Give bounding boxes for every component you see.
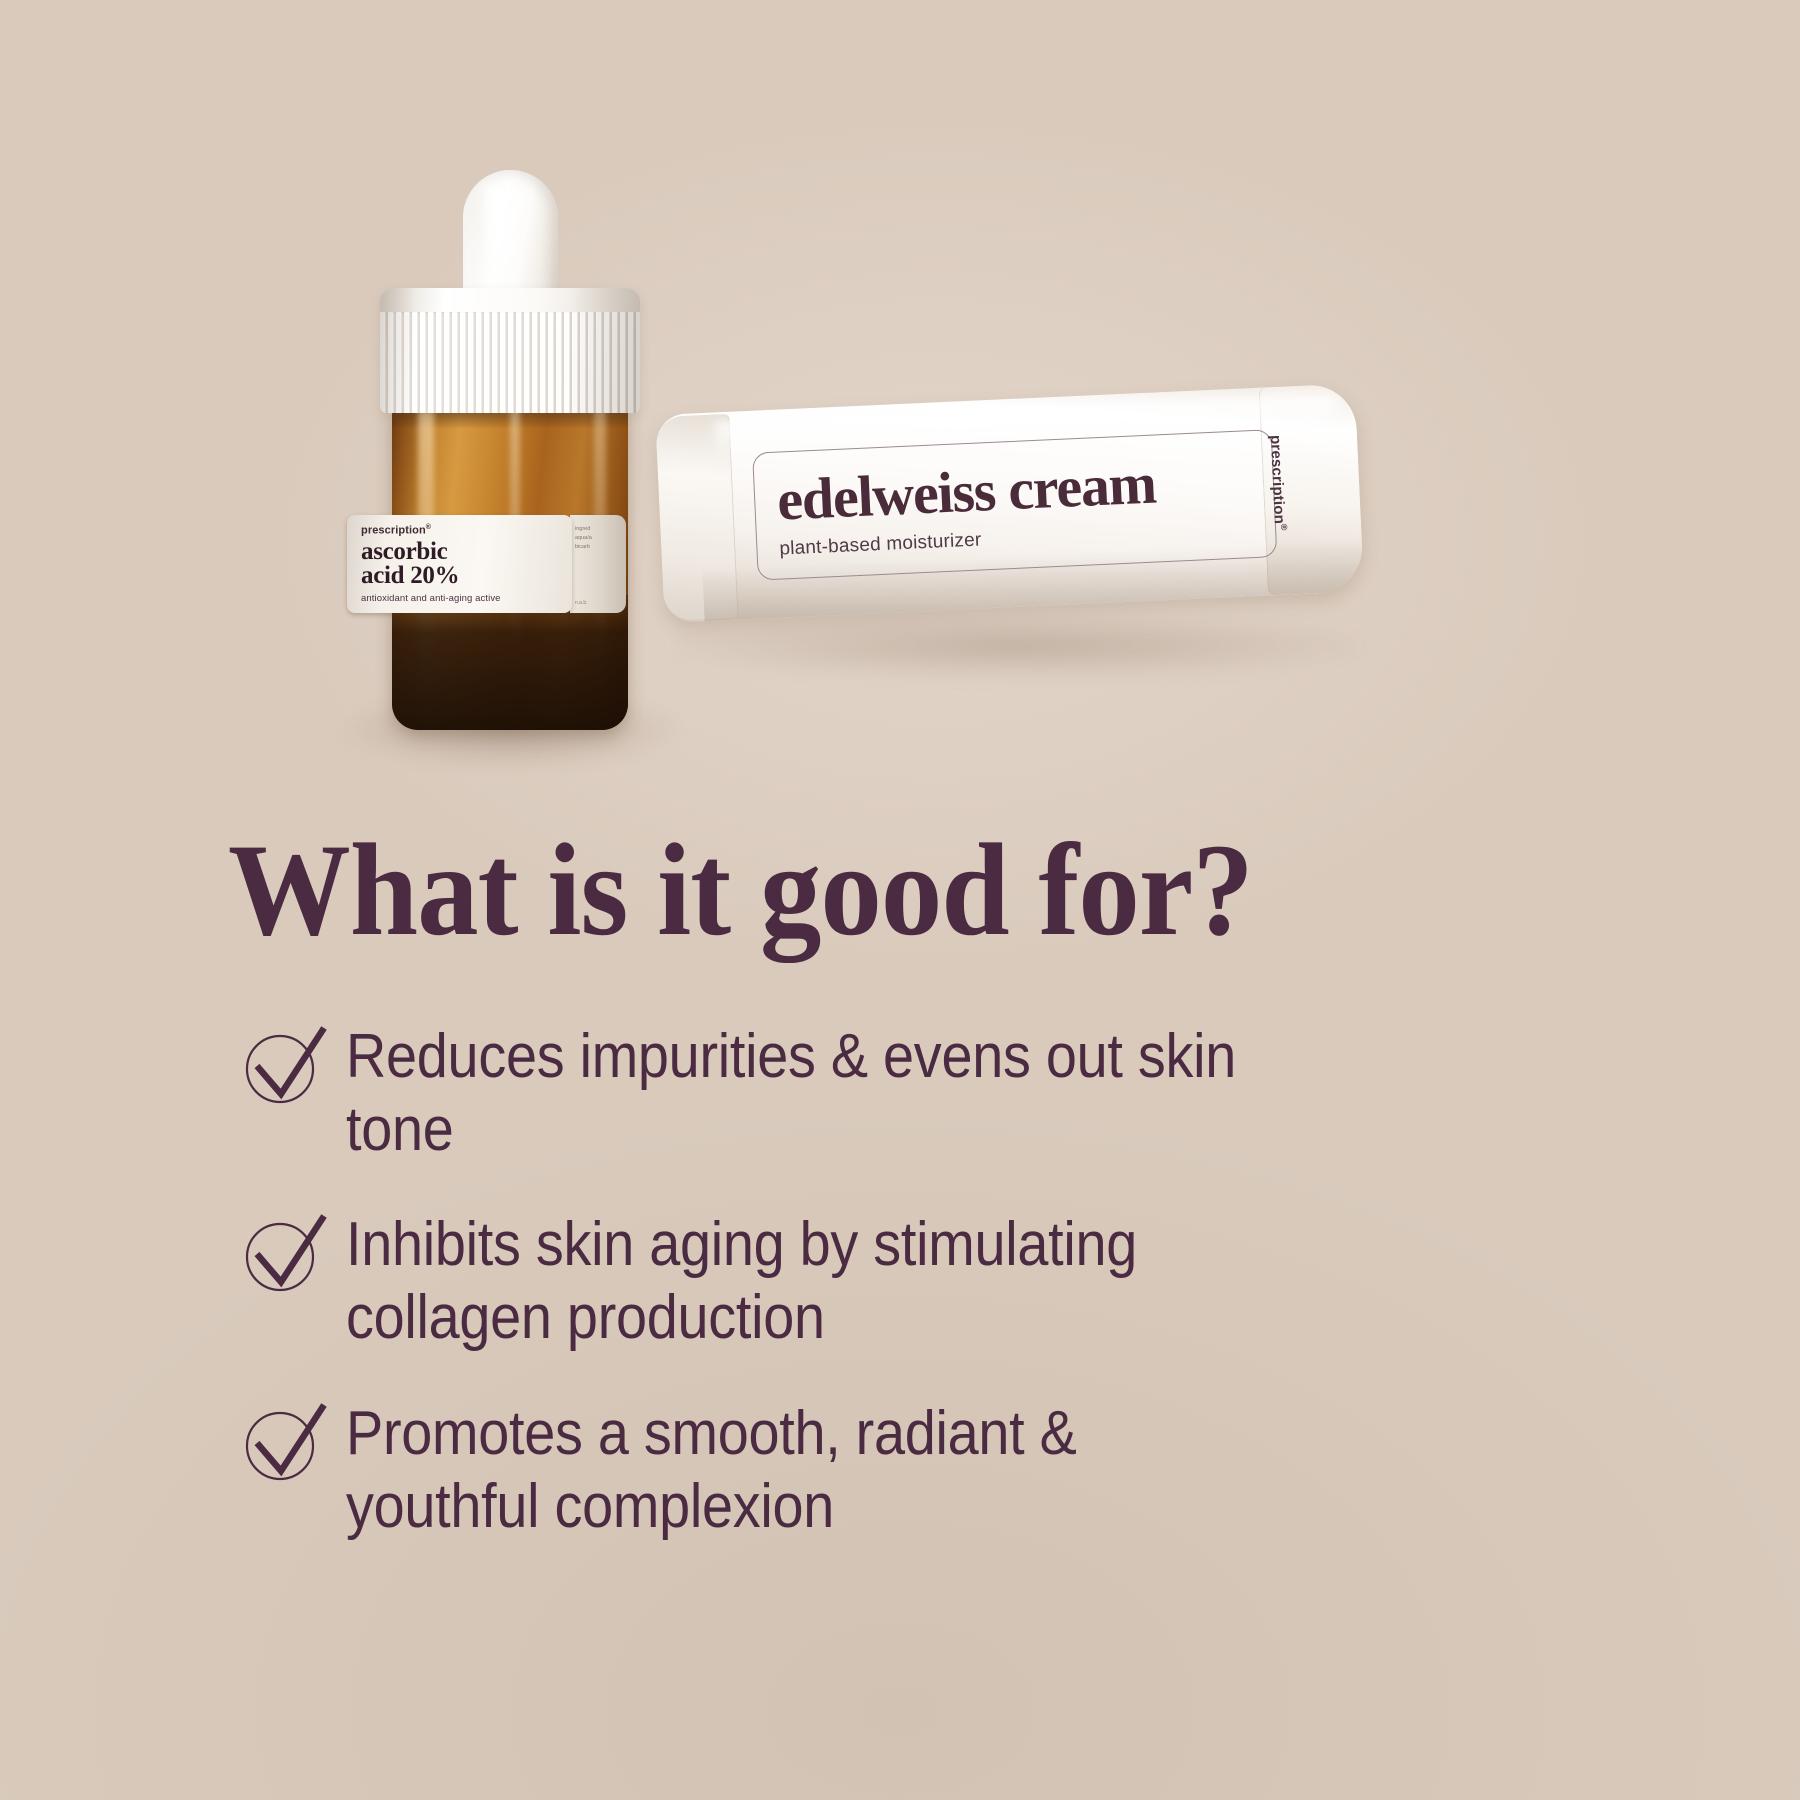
serum-front-label: prescription® ascorbic acid 20% antioxid… xyxy=(347,515,572,613)
cream-brand-vertical: prescription® xyxy=(1259,435,1290,556)
serum-label-side-panel: ingred aqua/a bicarb n.a.b. xyxy=(570,515,626,613)
serum-descriptor: antioxidant and anti-aging active xyxy=(361,593,560,604)
batch-code: n.a.b. xyxy=(575,600,588,606)
cream-label-box: edelweiss cream plant-based moisturizer xyxy=(752,429,1277,580)
dropper-cap xyxy=(380,288,640,413)
ingredients-line-2: aqua/a xyxy=(575,534,621,543)
list-item: Promotes a smooth, radiant & youthful co… xyxy=(240,1397,1560,1543)
cream-tube: edelweiss cream plant-based moisturizer … xyxy=(660,395,1360,685)
list-item: Inhibits skin aging by stimulating colla… xyxy=(240,1208,1560,1354)
benefit-label: Inhibits skin aging by stimulating colla… xyxy=(346,1208,1264,1354)
serum-name-line-2: acid 20% xyxy=(361,564,560,588)
ingredients-line-3: bicarb xyxy=(575,543,621,552)
check-circle-icon xyxy=(240,1403,326,1489)
registered-mark: ® xyxy=(426,524,431,531)
benefit-label: Promotes a smooth, radiant & youthful co… xyxy=(346,1397,1264,1543)
benefits-list: Reduces impurities & evens out skin tone… xyxy=(240,1020,1560,1585)
page-title: What is it good for? xyxy=(228,824,1530,956)
serum-name-line-1: ascorbic xyxy=(361,540,560,564)
cream-title: edelweiss cream xyxy=(776,449,1274,529)
tube-shell: edelweiss cream plant-based moisturizer … xyxy=(655,383,1364,623)
cream-tube-shadow xyxy=(670,610,1360,680)
ingredients-line-1: ingred xyxy=(575,525,621,534)
cream-tube-body: edelweiss cream plant-based moisturizer … xyxy=(655,383,1364,623)
benefit-label: Reduces impurities & evens out skin tone xyxy=(346,1020,1264,1166)
serum-product-name: ascorbic acid 20% xyxy=(361,540,560,588)
cap-shading xyxy=(380,288,640,413)
check-circle-icon xyxy=(240,1026,326,1112)
cream-registered-mark: ® xyxy=(1279,524,1289,531)
serum-bottle: ingred aqua/a bicarb n.a.b. prescription… xyxy=(380,170,640,770)
product-photo: ingred aqua/a bicarb n.a.b. prescription… xyxy=(0,0,1800,720)
list-item: Reduces impurities & evens out skin tone xyxy=(240,1020,1560,1166)
serum-brand: prescription® xyxy=(361,524,560,537)
check-circle-icon xyxy=(240,1214,326,1300)
serum-liquid xyxy=(392,595,628,730)
cream-brand-text: prescription xyxy=(1267,435,1288,525)
serum-brand-text: prescription xyxy=(361,525,426,537)
